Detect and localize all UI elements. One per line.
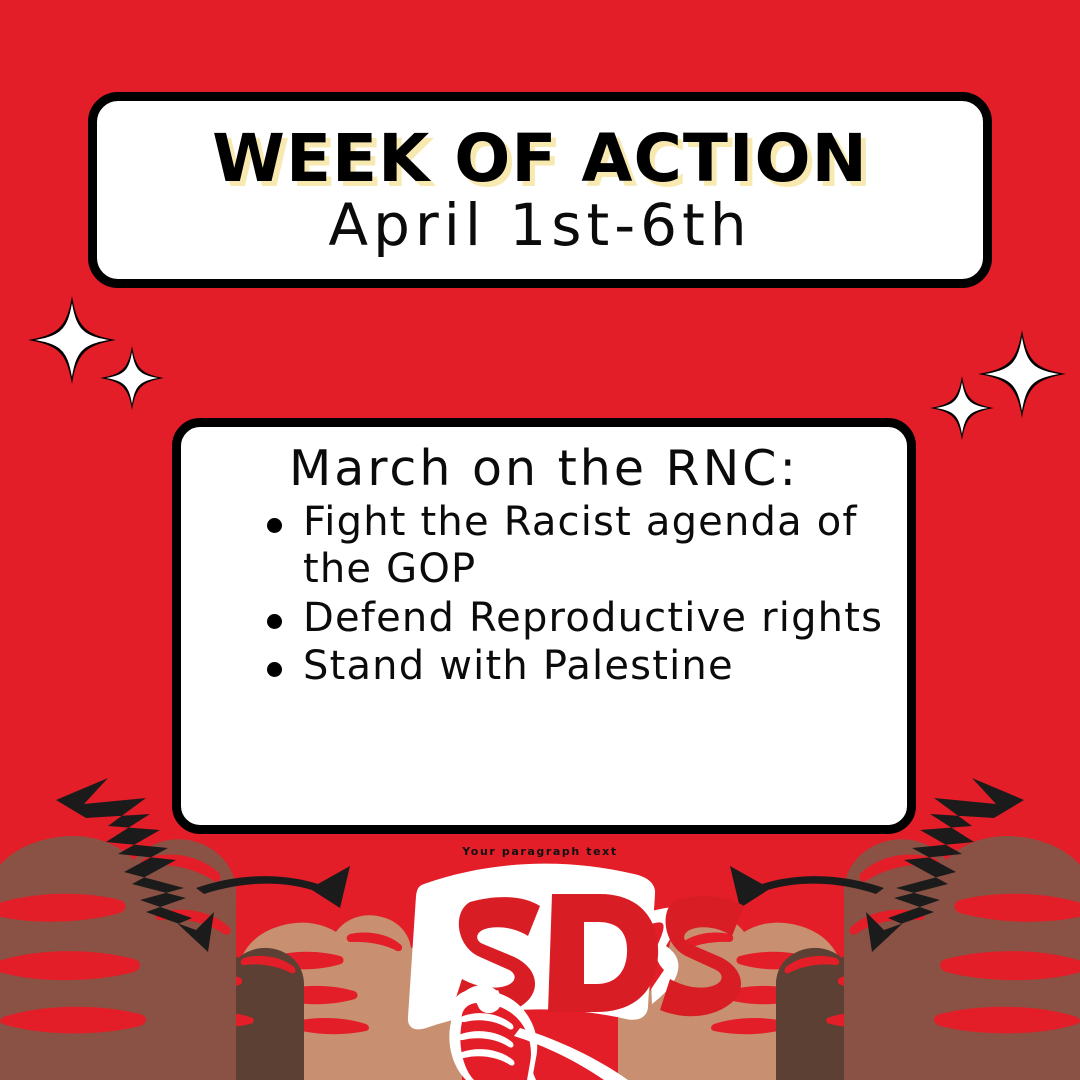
sds-letters — [452, 894, 744, 1016]
sds-flag-logo — [408, 864, 744, 1080]
poster-canvas: WEEK OF ACTION April 1st-6th March on th… — [0, 0, 1080, 1080]
fist-left-light — [236, 915, 464, 1080]
page-title: WEEK OF ACTION — [212, 126, 868, 192]
sparkle-top-right-large — [978, 330, 1066, 418]
demands-list: Fight the Racist agenda of the GOP Defen… — [203, 499, 885, 690]
date-range: April 1st-6th — [328, 196, 751, 254]
zigzag-left-tail — [196, 866, 350, 908]
zigzag-right-tail — [730, 866, 884, 908]
list-item: Fight the Racist agenda of the GOP — [265, 499, 885, 593]
content-heading: March on the RNC: — [203, 443, 885, 495]
list-item: Stand with Palestine — [265, 643, 885, 690]
fist-right-light — [616, 915, 844, 1080]
flag-hand — [449, 985, 628, 1080]
list-item: Defend Reproductive rights — [265, 595, 885, 642]
sparkle-top-left-large — [28, 296, 116, 384]
sparkle-top-right-small — [930, 376, 994, 440]
title-card: WEEK OF ACTION April 1st-6th — [88, 92, 992, 288]
fist-left-large — [0, 836, 236, 1080]
fist-right-large — [844, 836, 1080, 1080]
fist-right-dark — [776, 945, 942, 1080]
content-card: March on the RNC: Fight the Racist agend… — [172, 418, 916, 834]
fist-left-dark — [138, 945, 304, 1080]
paragraph-placeholder-text: Your paragraph text — [0, 845, 1080, 858]
sparkle-top-left-small — [100, 346, 164, 410]
